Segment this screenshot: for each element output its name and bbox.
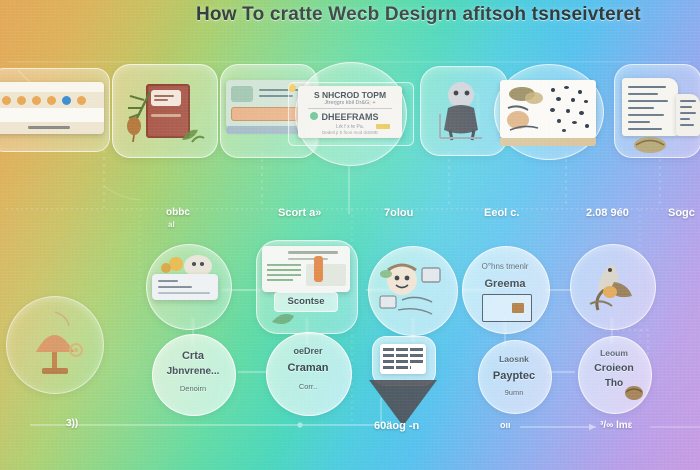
node-sconte[interactable]: Scontse: [256, 240, 356, 332]
node-craman-frame: [266, 332, 352, 416]
label-obbc: obbc: [166, 207, 190, 218]
card-stripe-top: [0, 82, 104, 92]
node-sketch[interactable]: [112, 64, 216, 156]
node-leoum[interactable]: Leoum Croieon Tho: [578, 336, 650, 412]
wireframe-divider: [308, 108, 392, 109]
sconte-leaf-icon: [270, 308, 310, 328]
footer-label-goaog: 60äog -n: [374, 420, 419, 432]
node-document[interactable]: [614, 64, 700, 160]
label-obbc-sub: al: [168, 220, 175, 229]
infographic-canvas: How To cratte Wecb Desigrn afitsoh tsnse…: [0, 0, 700, 470]
browser-frame: [482, 294, 532, 322]
node-lamp[interactable]: [6, 296, 102, 392]
node-greema-line2: Greema: [462, 278, 548, 290]
node-craman[interactable]: oeDrer Craman Corr..: [266, 332, 350, 414]
wireframe-bullet: [310, 112, 318, 120]
node-leoum-line2: Croieon: [578, 362, 650, 374]
footer-label-ort: oιı: [500, 420, 511, 430]
footer-label-ylm: ³/∞ lmε: [600, 420, 632, 431]
node-paypte-line3: 9umn: [478, 388, 550, 397]
label-scort: Scort a»: [278, 207, 321, 219]
color-swatch-card-icon: [0, 82, 104, 134]
node-greema[interactable]: O°hns tmenlr Greema: [462, 246, 548, 332]
ui-panel-block: [306, 264, 346, 286]
notebook-text: [154, 95, 174, 97]
moodboard-base: [500, 138, 596, 146]
node-crta-line3: Denoirn: [152, 384, 234, 393]
label-7olou: 7olou: [384, 207, 413, 219]
grid-table-icon: [380, 344, 426, 374]
node-craman-line1: oeDrer: [266, 346, 350, 356]
swatch-dot: [77, 96, 86, 105]
moodboard-speck-field: [548, 84, 592, 134]
card-underline: [28, 126, 70, 129]
node-craman-line3: Corr..: [266, 382, 350, 391]
label-eeol: Eeol c.: [484, 207, 519, 219]
node-paypte[interactable]: Laosnk Payptec 9umn: [478, 340, 550, 412]
swatch-dot: [47, 96, 56, 105]
bird-bubble-icon: [584, 256, 642, 316]
node-crta[interactable]: Crta Jbnvrene... Denoirn: [152, 334, 234, 414]
node-palette[interactable]: [0, 68, 108, 150]
card-stripe-mid: [0, 108, 104, 122]
assets-panel: [152, 274, 218, 300]
desk-lamp-icon: [24, 310, 86, 380]
node-greema-line1: O°hns tmenlr: [462, 262, 548, 271]
document-list-icon: [622, 78, 678, 136]
document-secondary-icon: [676, 94, 700, 136]
avatar-bubble-icon: [378, 256, 446, 324]
node-crta-line2: Jbnvrene...: [152, 366, 234, 377]
label-soge: Sogc: [668, 207, 695, 219]
ui-panel-icon: [262, 246, 350, 292]
leoum-nut-icon: [622, 382, 646, 402]
moodboard-blob-icon: [504, 84, 548, 134]
notebook-plant-icon: [112, 64, 216, 156]
node-sconte-label: Scontse: [256, 296, 356, 307]
swatch-dot: [17, 96, 26, 105]
node-bird[interactable]: [570, 244, 654, 328]
layout-block: [231, 86, 253, 102]
leaf-decor-icon: [178, 122, 206, 146]
label-208: 2.08 9é0: [586, 207, 629, 219]
node-leoum-line1: Leoum: [578, 348, 650, 358]
notebook-text: [154, 99, 168, 101]
node-moodboard[interactable]: [494, 64, 602, 158]
node-crta-line1: Crta: [152, 350, 234, 362]
wireframe-card-icon: S NHCROD TOPM Jtrerjgrs kbil Dr&G; + DHE…: [298, 86, 402, 138]
swatch-dot-accent: [62, 96, 71, 105]
node-craman-line2: Craman: [266, 362, 350, 374]
person-seated-icon: [434, 80, 492, 142]
swatch-dot: [32, 96, 41, 105]
wireframe-badge: [376, 124, 390, 129]
browser-bubble-icon: [482, 294, 530, 320]
moodboard-panel-icon: [500, 80, 596, 138]
node-assets[interactable]: [146, 244, 230, 328]
node-paypte-line2: Payptec: [478, 370, 550, 382]
footer-label-left: 3)): [66, 418, 78, 429]
node-wireframes[interactable]: S NHCROD TOPM Jtrerjgrs kbil Dr&G; + DHE…: [288, 60, 412, 166]
swatch-dot: [2, 96, 11, 105]
wireframe-caption-line1: S NHCROD TOPM: [298, 90, 402, 100]
plant-sprig-icon: [120, 86, 156, 142]
page-title: How To cratte Wecb Desigrn afitsoh tsnse…: [196, 4, 676, 36]
wireframe-caption-line2: Jtrerjgrs kbil Dr&G; +: [298, 100, 402, 106]
ui-panel-grid: [267, 264, 301, 286]
browser-badge: [512, 303, 524, 313]
node-avatar[interactable]: [368, 246, 456, 334]
document-leaf-icon: [630, 132, 674, 156]
wireframe-caption-line5: Dedeil jr b fnon mod dcEME: [298, 130, 402, 135]
swatch-dot-row: [2, 96, 86, 105]
ui-panel-marker: [314, 256, 323, 282]
node-paypte-line1: Laosnk: [478, 354, 550, 364]
